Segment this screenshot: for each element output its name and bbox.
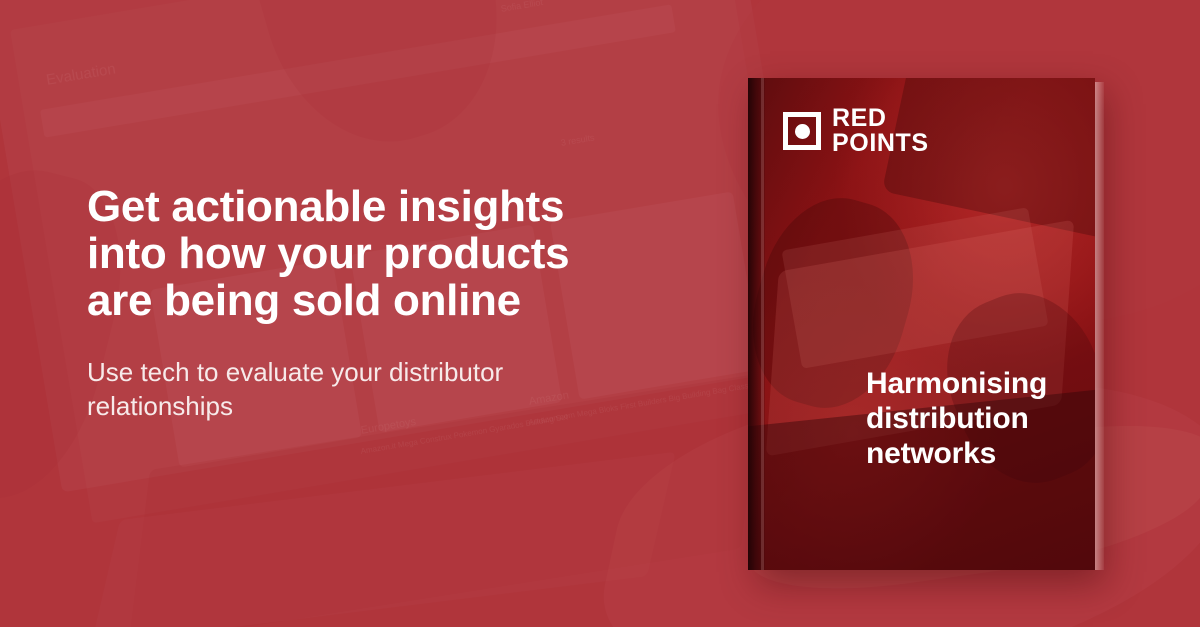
headline: Get actionable insights into how your pr… bbox=[87, 183, 687, 324]
subheadline-line-1: Use tech to evaluate your distributor bbox=[87, 355, 687, 389]
book-title-line-2: distribution bbox=[866, 401, 1081, 436]
book-page-stack bbox=[1094, 82, 1104, 570]
book-title: Harmonising distribution networks bbox=[866, 366, 1081, 471]
headline-line-3: are being sold online bbox=[87, 277, 687, 324]
book-title-line-1: Harmonising bbox=[866, 366, 1081, 401]
book-spine-highlight bbox=[761, 78, 764, 570]
logo-word-red: RED bbox=[832, 106, 929, 131]
book-title-line-3: networks bbox=[866, 436, 1081, 471]
promo-banner: Evaluation Sofia Elliot 3 results Europe… bbox=[0, 0, 1200, 627]
logo-dot-icon bbox=[795, 124, 810, 139]
subheadline: Use tech to evaluate your distributor re… bbox=[87, 355, 687, 423]
headline-line-2: into how your products bbox=[87, 230, 687, 277]
logo-square-icon bbox=[783, 112, 821, 150]
subheadline-line-2: relationships bbox=[87, 389, 687, 423]
red-points-logo: RED POINTS bbox=[783, 106, 929, 156]
headline-line-1: Get actionable insights bbox=[87, 183, 687, 230]
logo-wordmark: RED POINTS bbox=[832, 106, 929, 156]
book-front-cover: RED POINTS Harmonising distribution netw… bbox=[748, 78, 1095, 570]
logo-word-points: POINTS bbox=[832, 131, 929, 156]
ebook-cover[interactable]: RED POINTS Harmonising distribution netw… bbox=[748, 78, 1095, 570]
copy-block: Get actionable insights into how your pr… bbox=[87, 183, 687, 423]
